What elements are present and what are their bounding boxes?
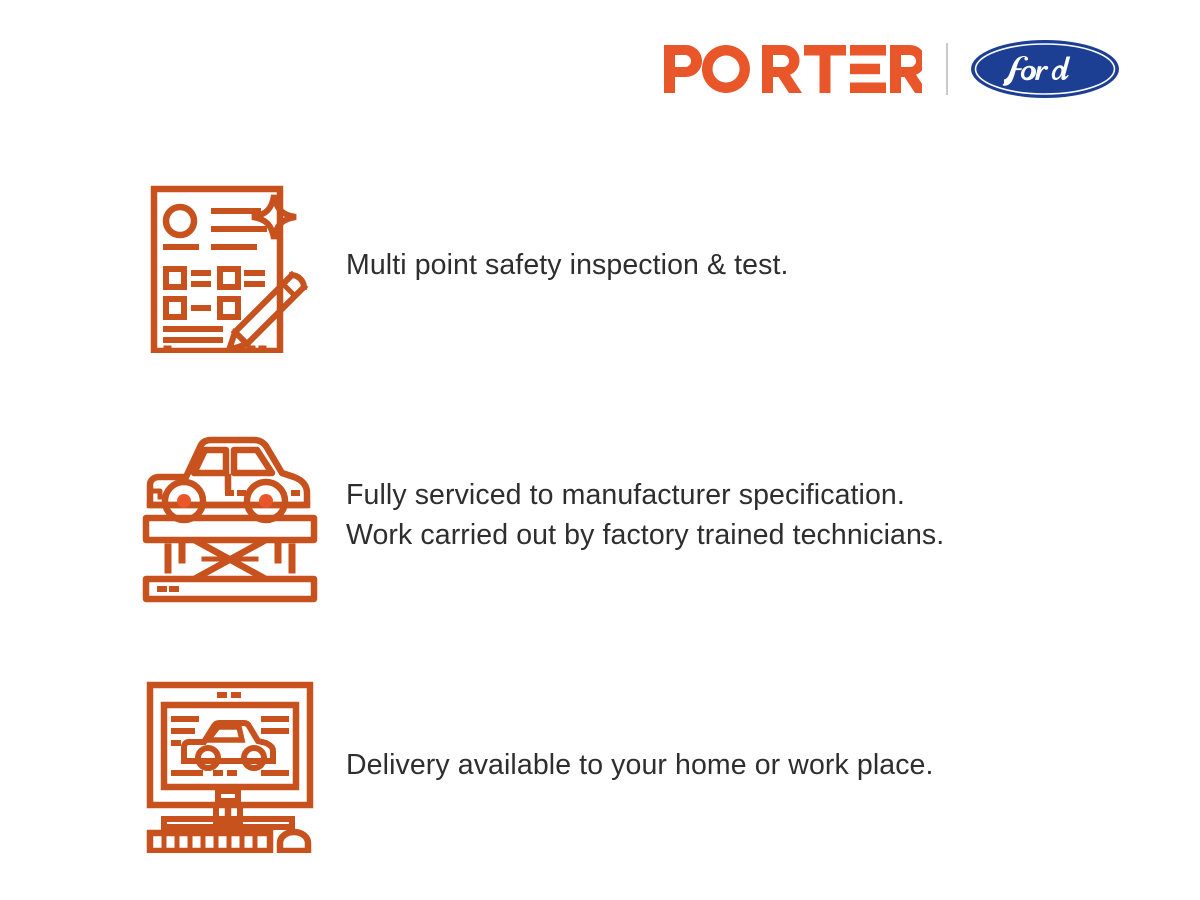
feature-row: Fully serviced to manufacturer specifica… — [0, 390, 1200, 640]
desktop-monitor-car-delivery-icon — [142, 675, 322, 855]
porter-wordmark-svg — [664, 45, 922, 93]
feature-row: Delivery available to your home or work … — [0, 640, 1200, 890]
feature-text: Fully serviced to manufacturer specifica… — [346, 475, 944, 556]
car-on-scissor-lift-icon-svg — [142, 427, 318, 603]
desktop-monitor-car-delivery-icon-svg — [142, 677, 318, 853]
feature-text: Multi point safety inspection & test. — [346, 245, 789, 285]
feature-text: Delivery available to your home or work … — [346, 745, 934, 785]
car-on-scissor-lift-icon — [142, 425, 322, 605]
ford-oval-svg — [970, 39, 1120, 99]
feature-list: Multi point safety inspection & test. — [0, 140, 1200, 890]
clipboard-checklist-pencil-icon-svg — [142, 177, 318, 353]
porter-logo — [664, 45, 922, 93]
feature-row: Multi point safety inspection & test. — [0, 140, 1200, 390]
ford-logo — [970, 39, 1120, 99]
brand-divider — [946, 43, 948, 95]
brand-header — [0, 32, 1200, 106]
clipboard-checklist-pencil-icon — [142, 175, 322, 355]
